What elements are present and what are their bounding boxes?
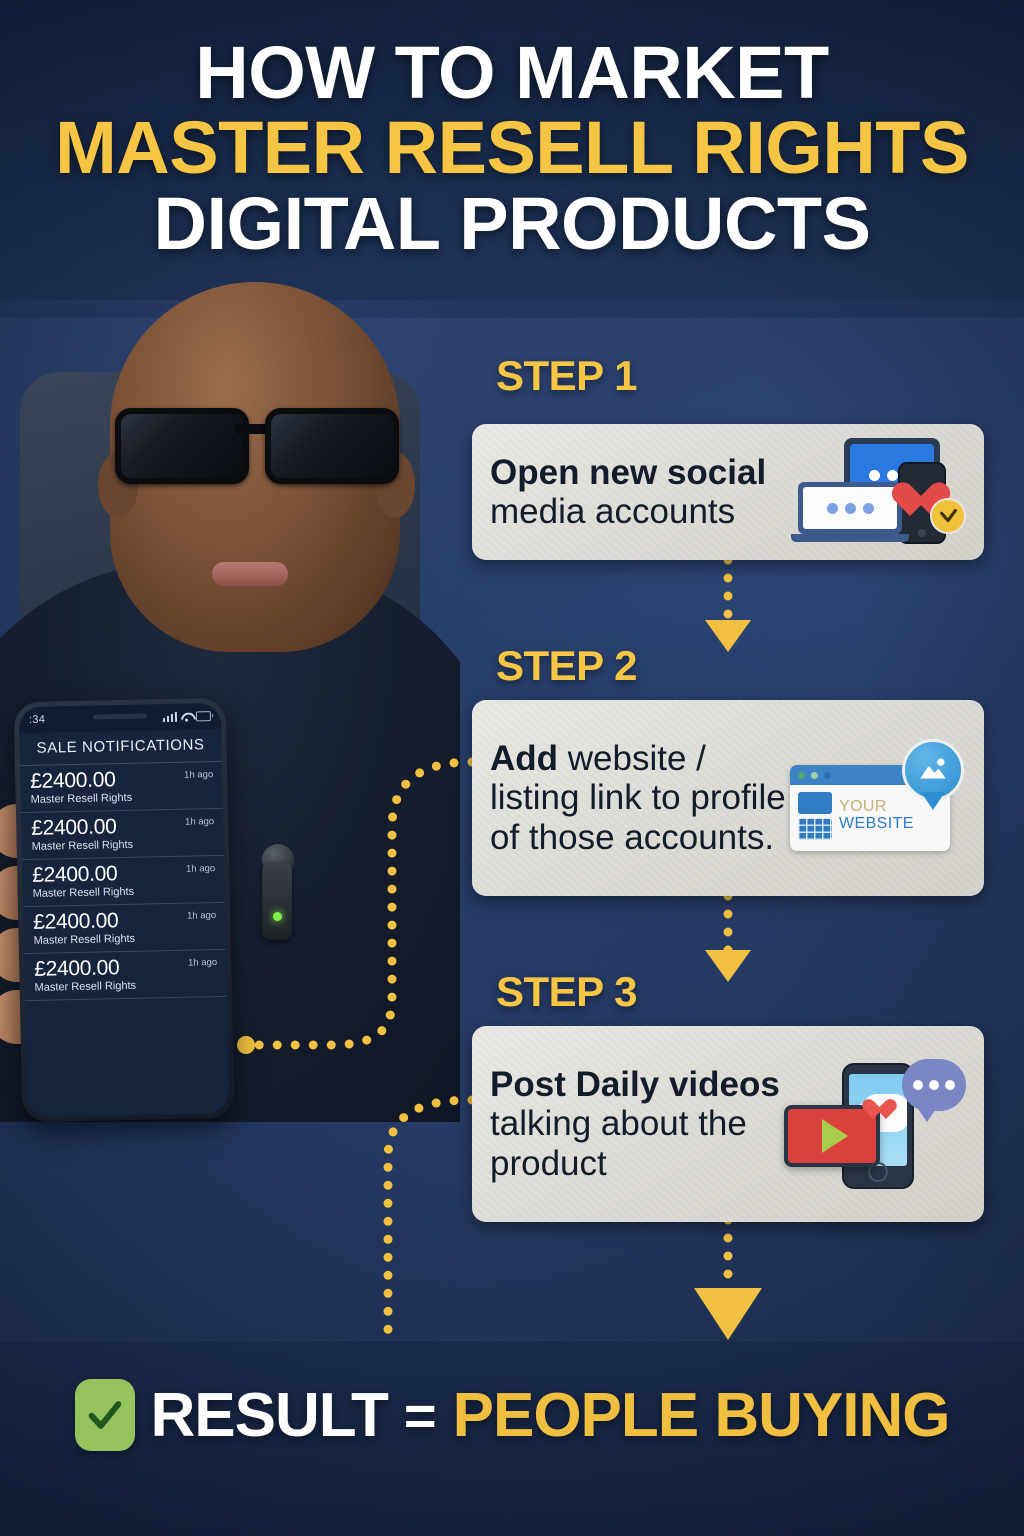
devices-social-icon — [798, 436, 966, 548]
step-3-normal-text: talking about the product — [490, 1104, 747, 1182]
video-player-icon — [784, 1105, 880, 1167]
image-pin-icon — [902, 739, 964, 801]
step-3-card[interactable]: Post Daily videos talking about the prod… — [472, 1026, 984, 1222]
infographic-canvas: HOW TO MARKET MASTER RESELL RIGHTS DIGIT… — [0, 0, 1024, 1536]
page-title: HOW TO MARKET MASTER RESELL RIGHTS DIGIT… — [0, 36, 1024, 260]
notification-time: 1h ago — [187, 910, 216, 922]
notification-row[interactable]: 1h ago £2400.00 Master Resell Rights — [20, 762, 223, 813]
speaker-notch — [93, 713, 147, 719]
connector-phone-step2 — [252, 762, 472, 1045]
battery-icon — [196, 711, 211, 721]
wifi-icon — [181, 713, 192, 722]
step-2-card[interactable]: Add website / listing link to profile of… — [472, 700, 984, 896]
notification-label: Master Resell Rights — [34, 978, 216, 994]
video-phone-chat-icon — [784, 1057, 966, 1191]
heart-icon — [867, 1100, 891, 1122]
notification-row[interactable]: 1h ago £2400.00 Master Resell Rights — [22, 856, 225, 907]
phone-mockup: :34 SALE NOTIFICATIONS 1h ago £2400.00 M… — [14, 698, 235, 1122]
website-window-icon: YOUR WEBSITE — [790, 739, 966, 857]
result-bar: RESULT = PEOPLE BUYING — [0, 1372, 1024, 1458]
website-label: YOUR WEBSITE — [839, 792, 914, 840]
step-1-bold-text: Open new social — [490, 453, 766, 492]
notification-label: Master Resell Rights — [32, 837, 214, 853]
notification-label: Master Resell Rights — [33, 884, 215, 900]
step-2-bold-text: Add — [490, 739, 558, 778]
notification-time: 1h ago — [185, 816, 214, 828]
result-equals: = — [404, 1383, 437, 1448]
clock-check-badge-icon — [930, 498, 966, 534]
connector-step3-bottom — [388, 1100, 472, 1340]
phone-status-bar: :34 — [19, 703, 222, 733]
signal-bars-icon — [162, 712, 177, 722]
laptop-icon — [798, 482, 902, 544]
step-1-heading: STEP 1 — [496, 352, 637, 400]
connector-endpoint-dot — [237, 1036, 255, 1054]
notification-row[interactable]: 1h ago £2400.00 Master Resell Rights — [24, 950, 227, 1001]
step-1-text: Open new social media accounts — [490, 453, 798, 531]
title-line-2: MASTER RESELL RIGHTS — [0, 111, 1024, 184]
step-1-card[interactable]: Open new social media accounts — [472, 424, 984, 560]
chat-bubble-icon — [902, 1059, 966, 1111]
title-line-1: HOW TO MARKET — [0, 36, 1024, 109]
arrow-step3-result — [694, 1288, 762, 1340]
result-outcome: PEOPLE BUYING — [453, 1380, 950, 1451]
step-3-text: Post Daily videos talking about the prod… — [490, 1065, 784, 1183]
thumbnails — [798, 792, 832, 840]
website-label-top: YOUR — [839, 799, 914, 816]
notification-label: Master Resell Rights — [31, 790, 213, 806]
grid-thumbnail — [798, 818, 832, 840]
play-button-icon — [822, 1119, 848, 1153]
step-1-normal-text: media accounts — [490, 492, 735, 531]
status-icons — [162, 711, 211, 722]
website-label-bottom: WEBSITE — [839, 816, 914, 833]
notification-row[interactable]: 1h ago £2400.00 Master Resell Rights — [21, 809, 224, 860]
step-2-text: Add website / listing link to profile of… — [490, 739, 790, 857]
notification-time: 1h ago — [186, 863, 215, 875]
notification-time: 1h ago — [184, 769, 213, 781]
step-3-heading: STEP 3 — [496, 968, 637, 1016]
notification-time: 1h ago — [188, 957, 217, 969]
video-screen — [788, 1109, 876, 1163]
notification-row[interactable]: 1h ago £2400.00 Master Resell Rights — [23, 903, 226, 954]
notifications-header: SALE NOTIFICATIONS — [19, 729, 222, 766]
title-line-3: DIGITAL PRODUCTS — [0, 187, 1024, 260]
notifications-list: 1h ago £2400.00 Master Resell Rights 1h … — [20, 762, 229, 1117]
check-mark-icon — [75, 1379, 135, 1451]
status-time: :34 — [29, 714, 45, 726]
card-thumbnail — [798, 792, 832, 814]
result-label: RESULT — [151, 1380, 388, 1451]
arrow-step2-step3 — [705, 950, 751, 982]
phone-screen: :34 SALE NOTIFICATIONS 1h ago £2400.00 M… — [19, 703, 230, 1117]
step-3-bold-text: Post Daily videos — [490, 1065, 780, 1104]
arrow-step1-step2 — [705, 620, 751, 652]
step-2-heading: STEP 2 — [496, 642, 637, 690]
notification-label: Master Resell Rights — [34, 931, 216, 947]
